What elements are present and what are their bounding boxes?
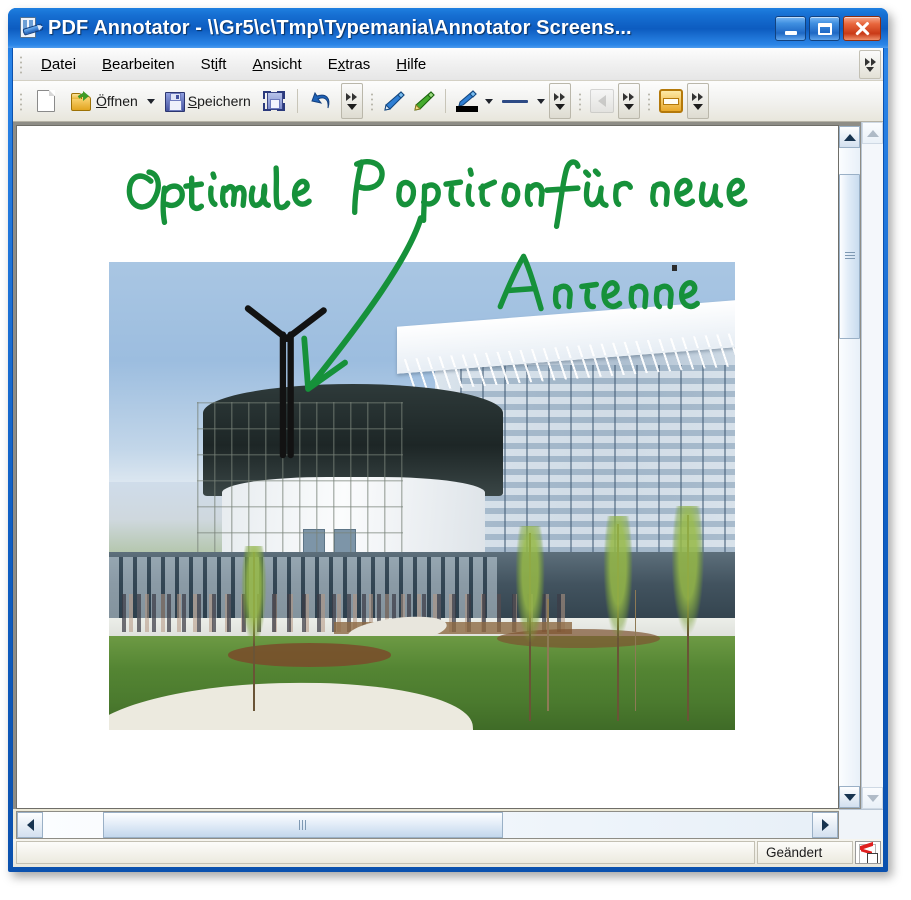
window-vertical-scrollbar[interactable] bbox=[861, 122, 883, 809]
toolbar-overflow-button-3[interactable] bbox=[618, 83, 640, 119]
minimize-button[interactable] bbox=[775, 16, 806, 41]
window-title: PDF Annotator - \\Gr5\c\Tmp\Typemania\An… bbox=[48, 17, 775, 40]
save-button-label: Speichern bbox=[188, 93, 251, 109]
chevron-down-icon bbox=[347, 104, 357, 110]
menu-label-accel: B bbox=[102, 56, 112, 73]
status-badge: Geändert bbox=[757, 841, 853, 864]
menu-item-stift[interactable]: Stift bbox=[190, 52, 238, 77]
floppy-disk-icon bbox=[164, 91, 184, 111]
new-page-button[interactable] bbox=[28, 86, 64, 116]
menu-label-post: earbeiten bbox=[112, 56, 175, 73]
close-button[interactable] bbox=[843, 16, 881, 41]
highlighter-tool-button[interactable] bbox=[409, 86, 439, 116]
menu-label-post: nsicht bbox=[263, 56, 302, 73]
toolbar-overflow-button-2[interactable] bbox=[549, 83, 571, 119]
menu-label-accel: H bbox=[396, 56, 407, 73]
pdf-page[interactable] bbox=[17, 126, 838, 808]
toolbar-separator bbox=[297, 89, 298, 113]
document-horizontal-scrollbar[interactable] bbox=[16, 811, 839, 839]
page-view-button[interactable] bbox=[656, 86, 686, 116]
save-as-icon bbox=[263, 91, 285, 111]
title-bar[interactable]: PDF Annotator - \\Gr5\c\Tmp\Typemania\An… bbox=[8, 8, 888, 48]
save-as-button[interactable] bbox=[257, 86, 291, 116]
menu-item-datei[interactable]: Datei bbox=[30, 52, 87, 77]
tree bbox=[679, 515, 697, 721]
pen-tool-button[interactable] bbox=[379, 86, 409, 116]
window-controls bbox=[775, 16, 881, 41]
thumb-grip bbox=[299, 820, 308, 830]
chevron-right-icon bbox=[822, 819, 829, 831]
document-vertical-scrollbar[interactable] bbox=[839, 125, 861, 809]
line-width-icon bbox=[500, 91, 530, 111]
toolbar-separator bbox=[445, 89, 446, 113]
left-arrow-icon bbox=[590, 89, 614, 113]
vertical-scroll-thumb[interactable] bbox=[839, 174, 860, 340]
tree bbox=[522, 533, 538, 720]
open-button-label: Öffnen bbox=[96, 93, 138, 109]
toolbar-overflow-button-4[interactable] bbox=[687, 83, 709, 119]
office-building-photograph bbox=[109, 262, 735, 730]
menu-label-post: tras bbox=[345, 56, 370, 73]
menu-bar: Datei Bearbeiten Stift Ansicht Extras Hi… bbox=[13, 48, 883, 81]
blank-page-icon bbox=[37, 90, 55, 112]
black-ink-dot bbox=[672, 265, 677, 271]
window-scroll-up-button[interactable] bbox=[862, 122, 883, 144]
chevron-down-icon bbox=[693, 104, 703, 110]
client-area: Datei Bearbeiten Stift Ansicht Extras Hi… bbox=[12, 48, 884, 868]
open-label-accel: Ö bbox=[96, 93, 107, 109]
line-width-dropdown-arrow-icon[interactable] bbox=[537, 99, 545, 104]
chevron-right-icon bbox=[560, 93, 565, 101]
toolbar-overflow-button-1[interactable] bbox=[341, 83, 363, 119]
menubar-overflow-button[interactable] bbox=[859, 50, 881, 79]
chevron-left-icon bbox=[27, 819, 34, 831]
chevron-up-icon bbox=[867, 130, 879, 137]
scrollbar-corner bbox=[839, 809, 883, 839]
scroll-up-button[interactable] bbox=[839, 126, 860, 148]
menu-label-post: ft bbox=[218, 56, 226, 73]
document-area bbox=[13, 122, 883, 809]
page-layout-icon bbox=[659, 89, 683, 113]
pdf-annotation-icon[interactable] bbox=[855, 841, 881, 864]
chevron-right-icon bbox=[623, 93, 628, 101]
scroll-down-button[interactable] bbox=[839, 786, 860, 808]
window-scroll-track[interactable] bbox=[862, 144, 883, 787]
main-toolbar: Öffnen Speichern bbox=[13, 81, 883, 122]
pdf-annotator-icon[interactable] bbox=[17, 16, 41, 40]
chevron-right-icon bbox=[871, 58, 876, 66]
chevron-down-icon bbox=[555, 104, 565, 110]
open-label-post: ffnen bbox=[107, 93, 138, 109]
save-button[interactable]: Speichern bbox=[158, 86, 257, 116]
thumb-grip bbox=[845, 252, 855, 260]
nav-toolbar-drag-handle[interactable] bbox=[576, 91, 584, 111]
menu-item-ansicht[interactable]: Ansicht bbox=[241, 52, 312, 77]
application-window: PDF Annotator - \\Gr5\c\Tmp\Typemania\An… bbox=[8, 8, 888, 872]
horizontal-scroll-thumb[interactable] bbox=[103, 812, 503, 838]
tree bbox=[610, 524, 626, 721]
open-dropdown-arrow-icon[interactable] bbox=[147, 99, 155, 104]
chevron-right-icon bbox=[352, 93, 357, 101]
view-toolbar-drag-handle[interactable] bbox=[645, 91, 653, 111]
save-label-post: peichern bbox=[197, 93, 251, 109]
menu-label-accel: A bbox=[252, 56, 262, 73]
undo-arrow-icon bbox=[310, 90, 334, 112]
chevron-down-icon bbox=[844, 794, 856, 801]
chevron-right-icon bbox=[865, 58, 870, 66]
pen-toolbar-drag-handle[interactable] bbox=[368, 91, 376, 111]
menu-label-accel: D bbox=[41, 56, 52, 73]
menu-item-bearbeiten[interactable]: Bearbeiten bbox=[91, 52, 186, 77]
menubar-drag-handle[interactable] bbox=[17, 54, 25, 74]
chevron-up-icon bbox=[844, 134, 856, 141]
chevron-right-icon bbox=[554, 93, 559, 101]
window-scroll-down-button[interactable] bbox=[862, 787, 883, 809]
save-label-accel: S bbox=[188, 93, 197, 109]
document-viewport[interactable] bbox=[16, 125, 839, 809]
undo-button[interactable] bbox=[304, 86, 340, 116]
vertical-scroll-track[interactable] bbox=[839, 148, 860, 786]
scroll-right-button[interactable] bbox=[812, 812, 838, 838]
chevron-right-icon bbox=[698, 93, 703, 101]
green-highlighter-icon bbox=[411, 89, 437, 113]
menu-label-post: ilfe bbox=[407, 56, 426, 73]
menu-label-pre: St bbox=[201, 56, 215, 73]
chevron-right-icon bbox=[692, 93, 697, 101]
chevron-right-icon bbox=[629, 93, 634, 101]
pen-color-icon bbox=[454, 89, 480, 113]
menu-item-hilfe[interactable]: Hilfe bbox=[385, 52, 437, 77]
line-width-button[interactable] bbox=[496, 86, 534, 116]
horizontal-scroll-track[interactable] bbox=[43, 812, 812, 838]
menu-label-post: atei bbox=[52, 56, 76, 73]
pen-color-dropdown-arrow-icon[interactable] bbox=[485, 99, 493, 104]
chevron-down-icon bbox=[624, 104, 634, 110]
previous-page-button[interactable] bbox=[587, 86, 617, 116]
status-bar: Geändert bbox=[13, 839, 883, 867]
status-message bbox=[16, 841, 755, 864]
chevron-down-icon bbox=[866, 67, 874, 72]
pen-color-button[interactable] bbox=[452, 86, 482, 116]
tree bbox=[247, 552, 261, 711]
open-button[interactable]: Öffnen bbox=[64, 86, 144, 116]
menu-label-pre: E bbox=[328, 56, 338, 73]
menu-item-extras[interactable]: Extras bbox=[317, 52, 382, 77]
scroll-left-button[interactable] bbox=[17, 812, 43, 838]
chevron-right-icon bbox=[346, 93, 351, 101]
maximize-button[interactable] bbox=[809, 16, 840, 41]
toolbar-drag-handle[interactable] bbox=[17, 91, 25, 111]
blue-pen-icon bbox=[381, 89, 407, 113]
open-folder-icon bbox=[70, 90, 92, 112]
chevron-down-icon bbox=[867, 795, 879, 802]
